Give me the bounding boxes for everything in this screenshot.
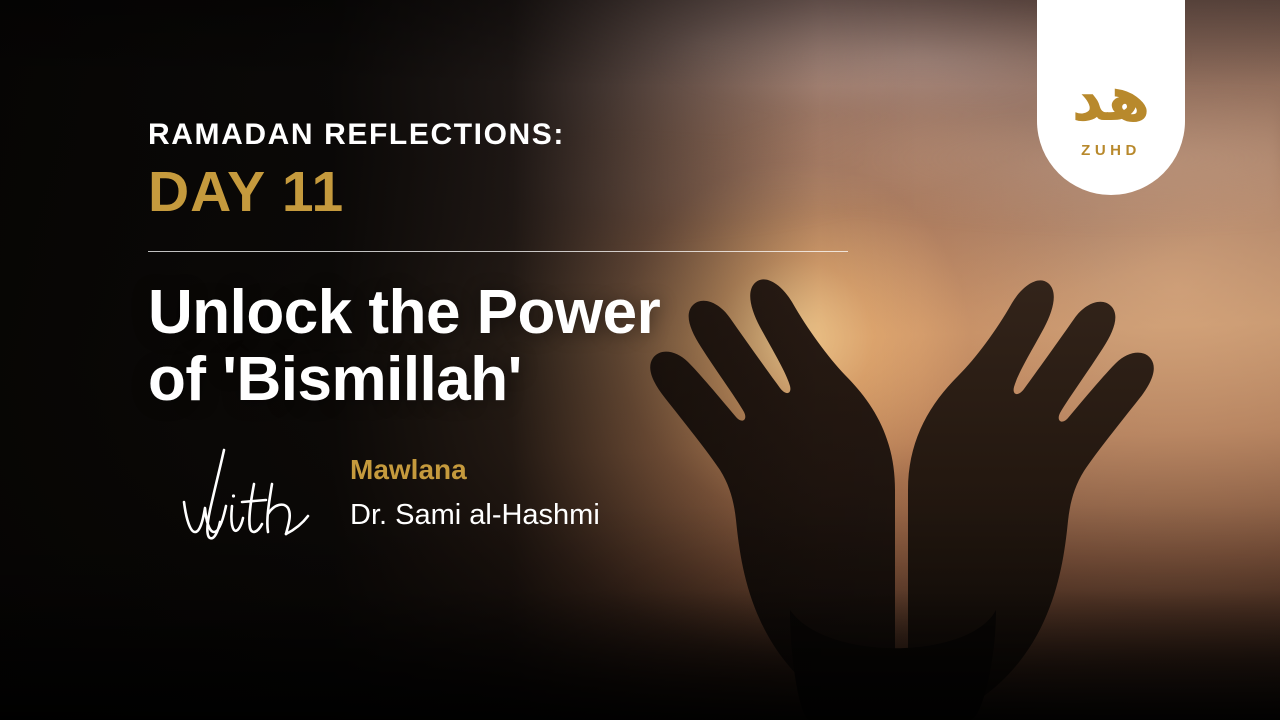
- presenter-honorific: Mawlana: [350, 452, 600, 487]
- divider-rule: [148, 251, 848, 252]
- arabic-calligraphy-icon: هد: [1072, 68, 1151, 130]
- brand-wordmark: ZUHD: [1081, 142, 1141, 159]
- page-title: Unlock the Power of 'Bismillah': [148, 280, 868, 414]
- presenter-row: Mawlana Dr. Sami al-Hashmi: [148, 440, 868, 560]
- video-thumbnail-slide: هد ZUHD RAMADAN REFLECTIONS: DAY 11 Unlo…: [0, 0, 1280, 720]
- day-label: DAY 11: [148, 163, 868, 223]
- title-line-1: Unlock the Power: [148, 280, 868, 347]
- presenter-text: Mawlana Dr. Sami al-Hashmi: [350, 452, 600, 535]
- with-script-icon: [162, 440, 332, 560]
- zuhd-logo-badge: هد ZUHD: [1037, 0, 1185, 195]
- presenter-name: Dr. Sami al-Hashmi: [350, 497, 600, 535]
- title-block: RAMADAN REFLECTIONS: DAY 11 Unlock the P…: [148, 118, 868, 560]
- series-kicker: RAMADAN REFLECTIONS:: [148, 118, 868, 151]
- title-line-2: of 'Bismillah': [148, 347, 868, 414]
